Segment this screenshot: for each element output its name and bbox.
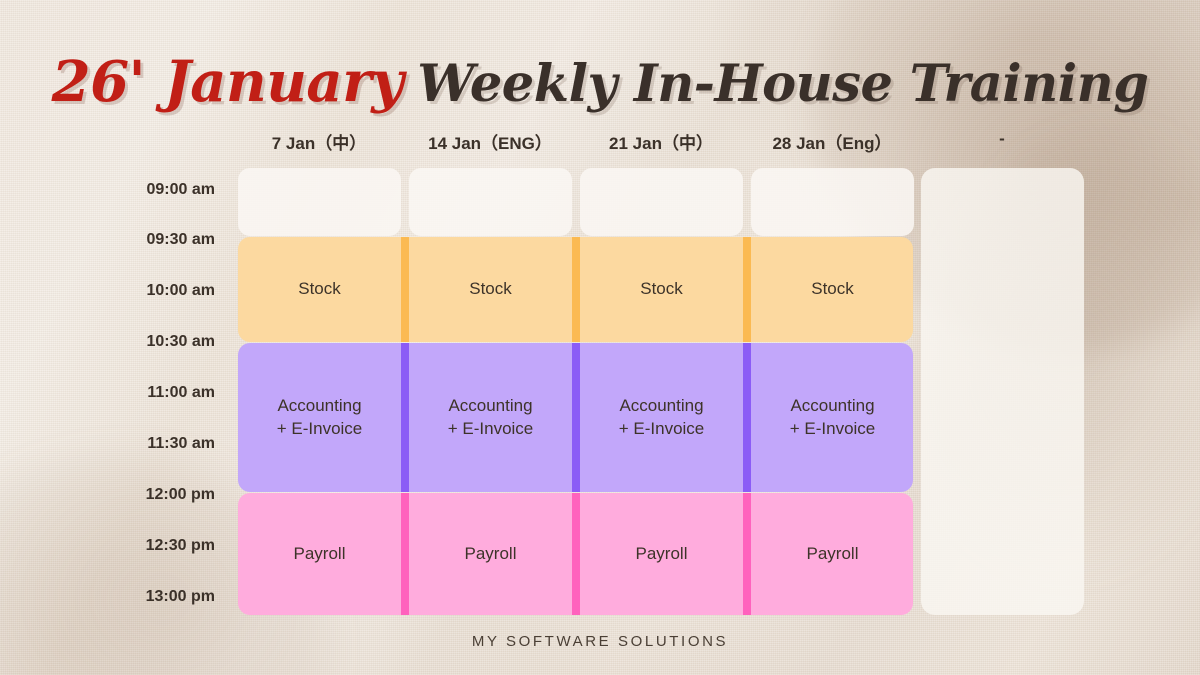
session-label-line: + E-Invoice bbox=[448, 418, 534, 441]
session-label-line: Stock bbox=[469, 278, 512, 301]
column-separator bbox=[572, 493, 580, 615]
time-label: 11:30 am bbox=[0, 435, 215, 453]
schedule-cell-band-payroll[interactable]: Payroll bbox=[409, 493, 572, 615]
session-label-line: Stock bbox=[811, 278, 854, 301]
session-label-line: Payroll bbox=[294, 543, 346, 566]
time-label: 10:00 am bbox=[0, 282, 215, 300]
time-label: 10:30 am bbox=[0, 333, 215, 351]
schedule-poster: 26' JanuaryWeekly In-House Training 7 Ja… bbox=[0, 0, 1200, 675]
schedule-cell-band-accounting[interactable]: Accounting+ E-Invoice bbox=[409, 343, 572, 492]
schedule-cell-band-stock[interactable]: Stock bbox=[409, 237, 572, 342]
schedule-cell-band-accounting[interactable]: Accounting+ E-Invoice bbox=[580, 343, 743, 492]
title-month: 26' January bbox=[52, 54, 404, 110]
schedule-cell-band-payroll[interactable]: Payroll bbox=[238, 493, 401, 615]
column-separator bbox=[572, 343, 580, 492]
session-label-line: Payroll bbox=[807, 543, 859, 566]
schedule-cell-band-stock[interactable]: Stock bbox=[238, 237, 401, 342]
column-separator bbox=[743, 237, 751, 342]
time-label: 12:00 pm bbox=[0, 486, 215, 504]
schedule-cell-empty[interactable] bbox=[751, 168, 914, 236]
session-label-line: Stock bbox=[640, 278, 683, 301]
column-separator bbox=[743, 343, 751, 492]
session-label-line: Payroll bbox=[636, 543, 688, 566]
column-separator bbox=[401, 237, 409, 342]
session-label-line: + E-Invoice bbox=[277, 418, 363, 441]
schedule-cell-empty[interactable] bbox=[409, 168, 572, 236]
session-band-band-accounting: Accounting+ E-InvoiceAccounting+ E-Invoi… bbox=[238, 343, 913, 492]
session-label-line: Accounting bbox=[277, 395, 361, 418]
session-label-line: Accounting bbox=[619, 395, 703, 418]
session-label-line: Accounting bbox=[448, 395, 532, 418]
schedule-cell-band-payroll[interactable]: Payroll bbox=[580, 493, 743, 615]
session-band-band-stock: StockStockStockStock bbox=[238, 237, 913, 342]
footer-brand: MY SOFTWARE SOLUTIONS bbox=[0, 633, 1200, 650]
session-label-line: Stock bbox=[298, 278, 341, 301]
time-label: 11:00 am bbox=[0, 384, 215, 402]
schedule-cell-empty[interactable] bbox=[580, 168, 743, 236]
time-label: 12:30 pm bbox=[0, 537, 215, 555]
schedule-cell-band-accounting[interactable]: Accounting+ E-Invoice bbox=[238, 343, 401, 492]
column-separator bbox=[572, 237, 580, 342]
session-label-line: + E-Invoice bbox=[790, 418, 876, 441]
time-label: 09:00 am bbox=[0, 181, 215, 199]
schedule-grid: StockStockStockStockAccounting+ E-Invoic… bbox=[238, 168, 913, 615]
column-separator bbox=[743, 493, 751, 615]
session-label-line: Accounting bbox=[790, 395, 874, 418]
column-separator bbox=[401, 343, 409, 492]
page-title: 26' JanuaryWeekly In-House Training bbox=[0, 54, 1200, 110]
column-separator bbox=[401, 493, 409, 615]
title-main: Weekly In-House Training bbox=[417, 59, 1148, 110]
schedule-cell-band-stock[interactable]: Stock bbox=[751, 237, 914, 342]
time-label: 09:30 am bbox=[0, 231, 215, 249]
schedule-cell-empty[interactable] bbox=[238, 168, 401, 236]
session-label-line: Payroll bbox=[465, 543, 517, 566]
time-label: 13:00 pm bbox=[0, 588, 215, 606]
schedule-cell-band-stock[interactable]: Stock bbox=[580, 237, 743, 342]
schedule-cell-band-accounting[interactable]: Accounting+ E-Invoice bbox=[751, 343, 914, 492]
session-label-line: + E-Invoice bbox=[619, 418, 705, 441]
session-band-band-payroll: PayrollPayrollPayrollPayroll bbox=[238, 493, 913, 615]
column-header-col-empty: - bbox=[892, 129, 1112, 149]
empty-column-card[interactable] bbox=[921, 168, 1084, 615]
schedule-cell-band-payroll[interactable]: Payroll bbox=[751, 493, 914, 615]
